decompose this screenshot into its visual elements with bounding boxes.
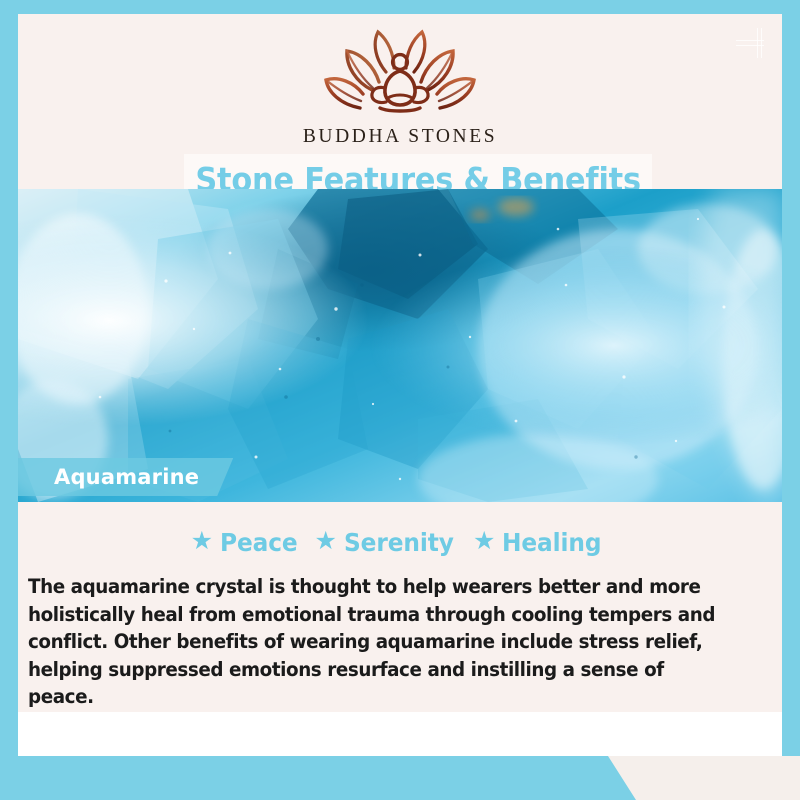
poster-page: BUDDHA STONES Stone Features & Benefits: [18, 14, 782, 756]
stone-name-label: Aquamarine: [54, 465, 199, 489]
brand-wordmark: BUDDHA STONES: [303, 126, 497, 148]
star-icon: ★: [315, 529, 337, 554]
lower-white-panel: [18, 712, 782, 756]
keyword-list: ★ Peace ★ Serenity ★ Healing: [18, 528, 782, 557]
keyword-label: Peace: [220, 528, 298, 557]
lotus-meditating-figure-icon: [316, 26, 484, 122]
content-section: ★ Peace ★ Serenity ★ Healing The aquamar…: [18, 502, 782, 756]
description-paragraph: The aquamarine crystal is thought to hel…: [28, 573, 733, 711]
crystal-photo: Aquamarine: [18, 189, 782, 502]
keyword-item-peace: ★ Peace: [191, 528, 304, 557]
star-icon: ★: [191, 529, 213, 554]
poster-canvas: BUDDHA STONES Stone Features & Benefits: [0, 0, 800, 800]
brand-logo: BUDDHA STONES: [18, 26, 782, 148]
keyword-label: Serenity: [344, 528, 454, 557]
keyword-item-healing: ★ Healing: [473, 528, 609, 557]
stone-name-chip: Aquamarine: [18, 458, 233, 496]
star-icon: ★: [473, 529, 495, 554]
keyword-label: Healing: [502, 528, 601, 557]
keyword-item-serenity: ★ Serenity: [315, 528, 462, 557]
